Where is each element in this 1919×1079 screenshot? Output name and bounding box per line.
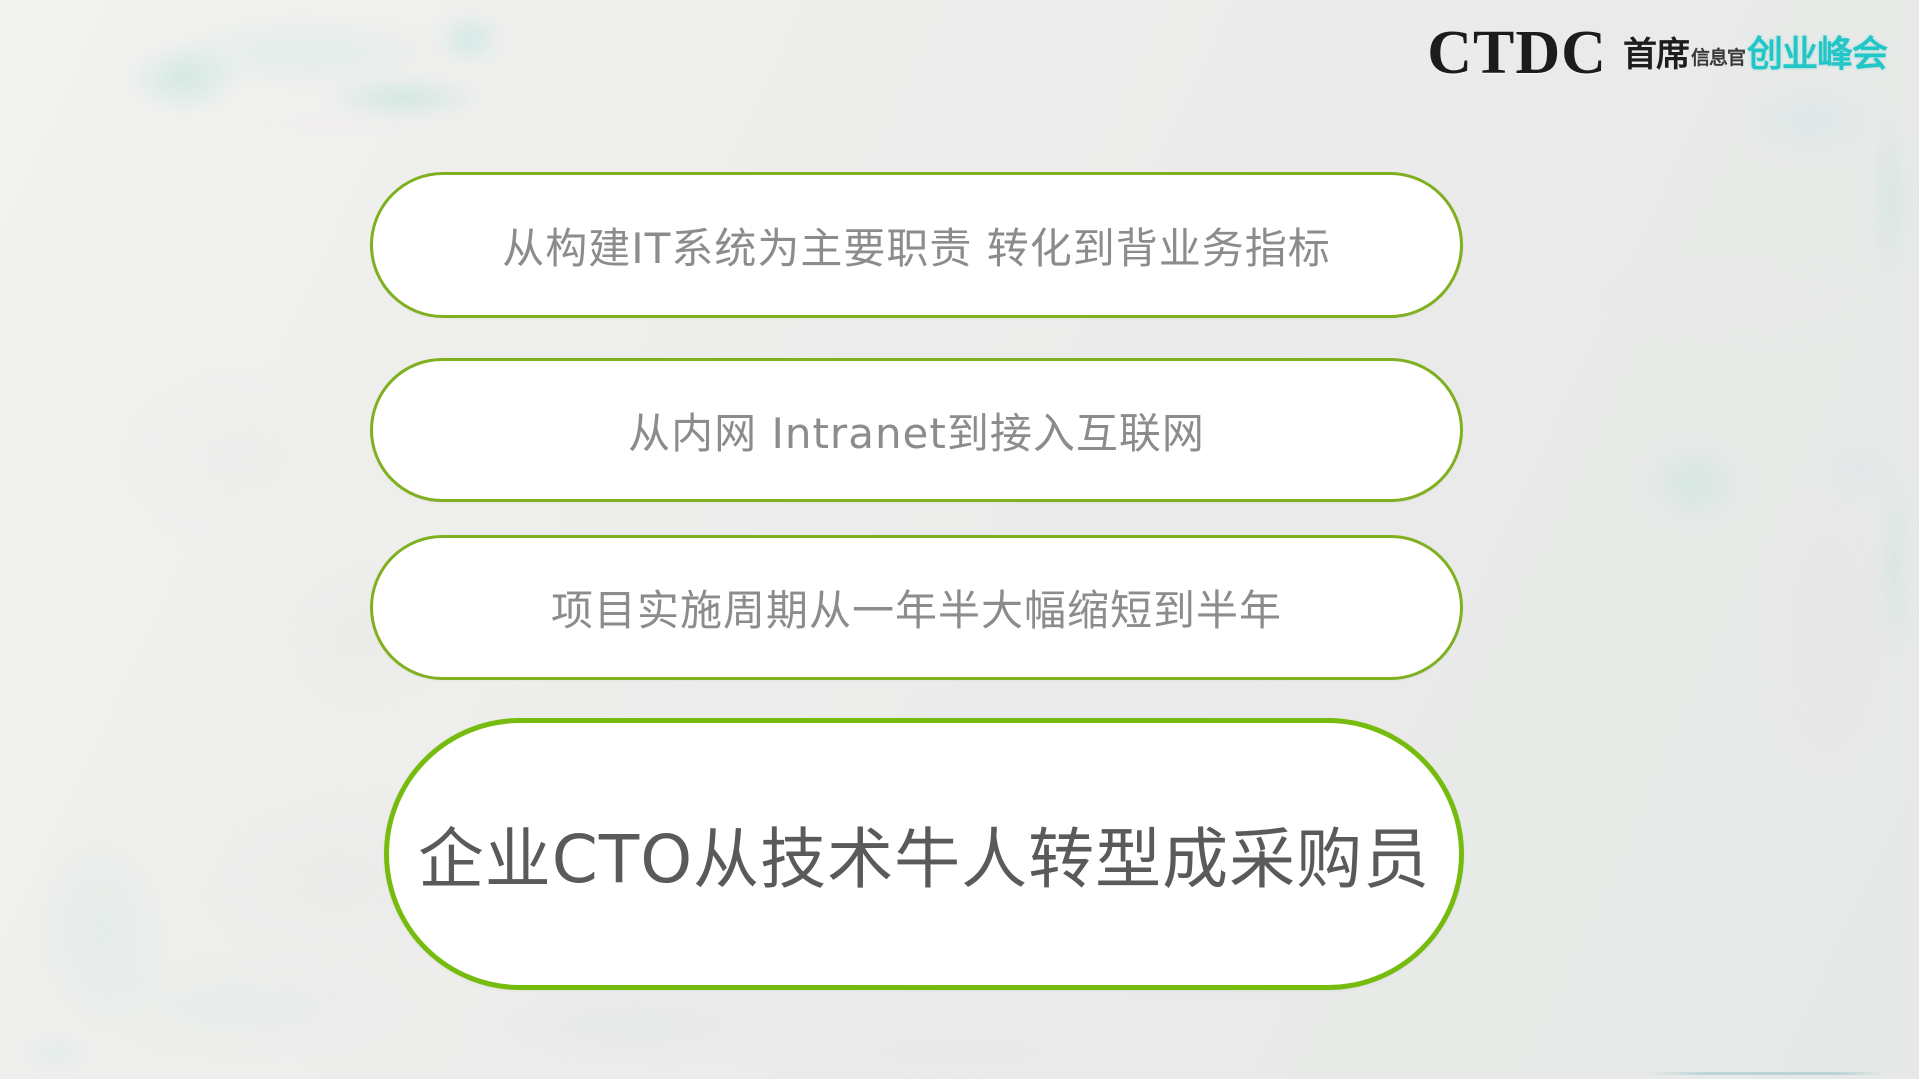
conclusion-pill: 企业CTO从技术牛人转型成采购员 xyxy=(384,718,1464,990)
conclusion-pill-text: 企业CTO从技术牛人转型成采购员 xyxy=(418,806,1430,902)
logo-chinese-lockup: 首席 信息官 创业峰会 xyxy=(1623,25,1887,81)
presentation-slide: CTDC 首席 信息官 创业峰会 从构建IT系统为主要职责 转化到背业务指标 从… xyxy=(0,0,1919,1079)
statement-pill-1: 从构建IT系统为主要职责 转化到背业务指标 xyxy=(370,172,1463,318)
statement-pill-2-text: 从内网 Intranet到接入互联网 xyxy=(628,400,1205,461)
logo-underline-rule xyxy=(1647,1072,1887,1075)
brand-logo: CTDC 首席 信息官 创业峰会 xyxy=(1427,18,1887,88)
logo-chinese-accent: 创业峰会 xyxy=(1747,25,1887,77)
statement-pill-1-text: 从构建IT系统为主要职责 转化到背业务指标 xyxy=(502,215,1330,276)
logo-chinese-primary: 首席 xyxy=(1623,27,1689,76)
logo-chinese-secondary: 信息官 xyxy=(1691,43,1745,70)
statement-pill-3: 项目实施周期从一年半大幅缩短到半年 xyxy=(370,535,1463,680)
statement-pill-2: 从内网 Intranet到接入互联网 xyxy=(370,358,1463,502)
statement-pill-3-text: 项目实施周期从一年半大幅缩短到半年 xyxy=(551,577,1282,638)
logo-acronym-text: CTDC xyxy=(1427,22,1607,84)
